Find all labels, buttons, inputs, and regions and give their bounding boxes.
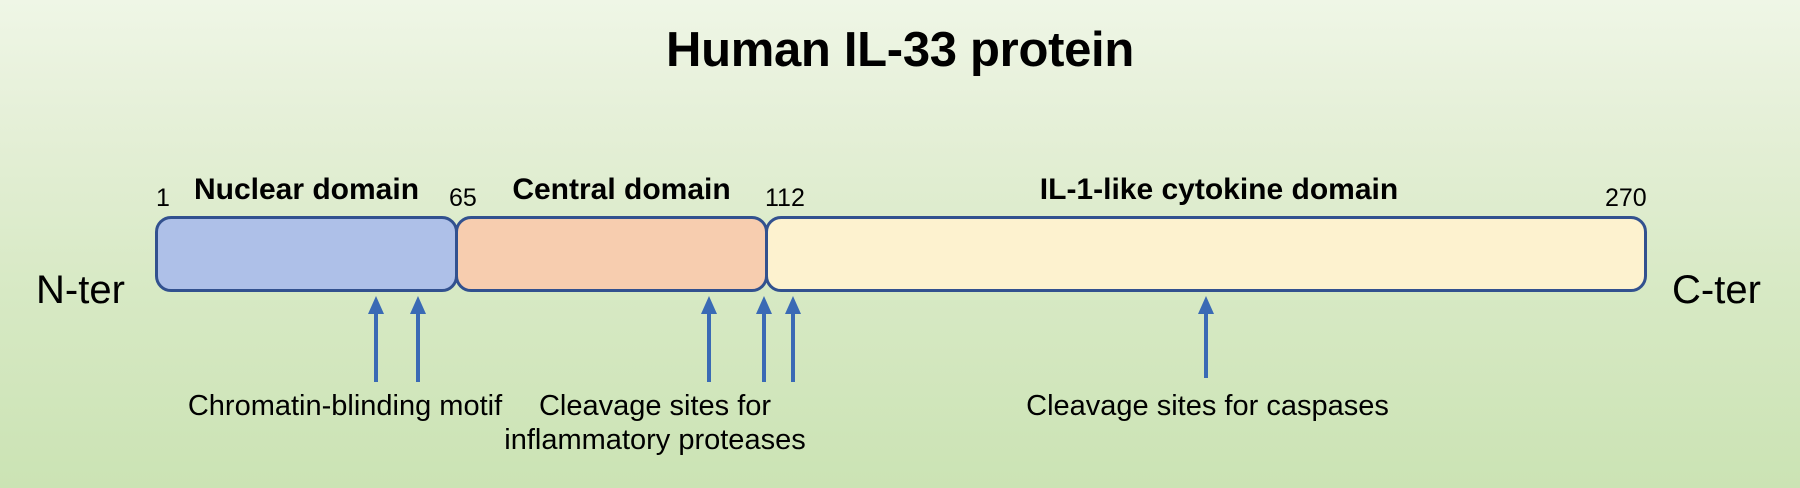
arrow-chromatin-site-1 bbox=[367, 296, 385, 382]
domain-box-central bbox=[455, 216, 768, 292]
domain-label-cytokine: IL-1-like cytokine domain bbox=[778, 173, 1660, 207]
annotation-cleavage-sites-inflammatory-proteases: Cleavage sites for inflammatory protease… bbox=[455, 389, 855, 457]
domain-box-cytokine bbox=[765, 216, 1647, 292]
arrow-protease-site-1 bbox=[700, 296, 718, 382]
arrow-chromatin-site-2 bbox=[409, 296, 427, 382]
n-terminus-label: N-ter bbox=[36, 268, 125, 313]
domain-box-nuclear bbox=[155, 216, 458, 292]
figure-title: Human IL-33 protein bbox=[0, 22, 1800, 78]
domain-label-nuclear: Nuclear domain bbox=[155, 173, 458, 207]
arrow-caspase-site-1 bbox=[1197, 296, 1215, 378]
protein-schematic-bar bbox=[155, 216, 1650, 292]
arrow-protease-site-3 bbox=[784, 296, 802, 382]
domain-label-central: Central domain bbox=[465, 173, 778, 207]
arrow-protease-site-2 bbox=[755, 296, 773, 382]
annotation-cleavage-sites-caspases: Cleavage sites for caspases bbox=[985, 389, 1430, 423]
protein-domain-diagram: Human IL-33 protein N-ter C-ter 1 65 112… bbox=[0, 0, 1800, 488]
c-terminus-label: C-ter bbox=[1672, 268, 1761, 313]
